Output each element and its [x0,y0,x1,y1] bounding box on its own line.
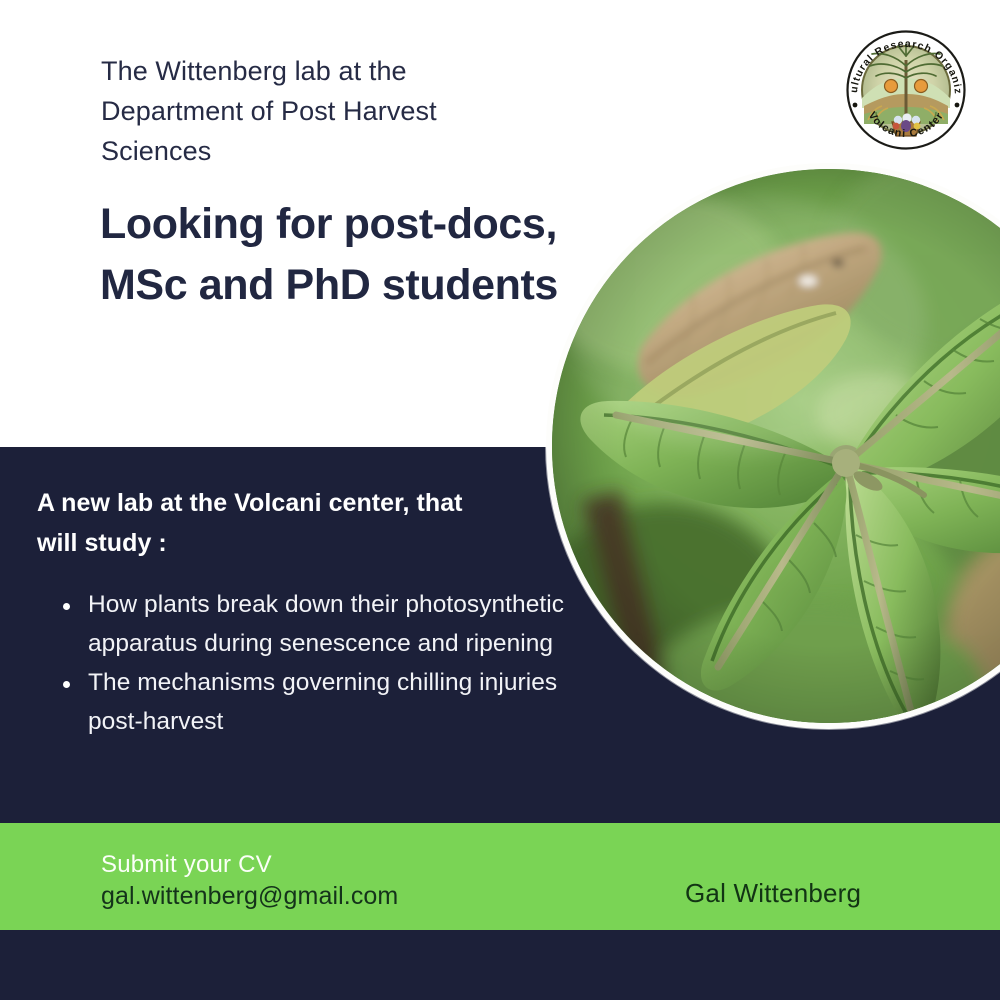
contact-email-link[interactable]: gal.wittenberg@gmail.com [101,882,398,911]
intro-text: The Wittenberg lab at the Department of … [101,52,541,172]
bottom-navy-strip [0,930,1000,1000]
list-item-label: The mechanisms governing chilling injuri… [88,669,557,735]
leaf-photo-illustration [546,163,1000,729]
author-name: Gal Wittenberg [685,878,861,909]
aro-volcani-center-logo: Agricultural Research Organization Volca… [838,22,974,158]
bullet-dot-icon [63,681,70,688]
bullet-dot-icon [63,603,70,610]
page-title: Looking for post-docs, MSc and PhD stude… [100,194,600,316]
lead-statement: A new lab at the Volcani center, that wi… [37,484,507,563]
research-topics-list: How plants break down their photosynthet… [55,586,585,742]
logo-seal: Agricultural Research Organization Volca… [838,22,974,158]
leaf-photo-circle [546,163,1000,729]
list-item-label: How plants break down their photosynthet… [88,591,564,657]
list-item: How plants break down their photosynthet… [55,586,585,663]
list-item: The mechanisms governing chilling injuri… [55,664,585,741]
poster-canvas: The Wittenberg lab at the Department of … [0,0,1000,1000]
submit-cv-label: Submit your CV [101,851,272,879]
